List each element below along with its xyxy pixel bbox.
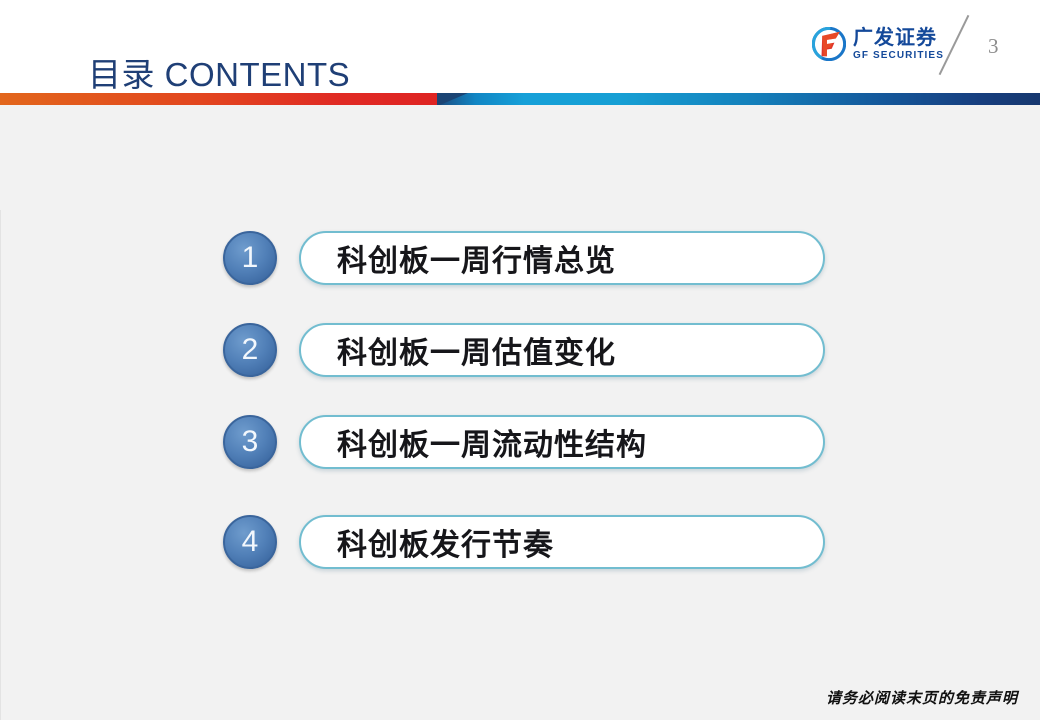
toc-pill-2[interactable]: 科创板一周估值变化 <box>299 323 825 377</box>
slide-left-edge-line <box>0 210 1 720</box>
toc-number-badge-1: 1 <box>223 231 277 285</box>
presentation-slide: 目录 CONTENTS 广发证券 GF SECURITIES 3 1 <box>0 0 1040 720</box>
brand-logo: 广发证券 GF SECURITIES <box>812 27 944 61</box>
toc-number-badge-3: 3 <box>223 415 277 469</box>
toc-entry-3[interactable]: 3 科创板一周流动性结构 <box>223 410 825 474</box>
page-number: 3 <box>988 34 999 59</box>
toc-pill-4[interactable]: 科创板发行节奏 <box>299 515 825 569</box>
toc-entry-label: 科创板发行节奏 <box>337 520 554 564</box>
toc-entry-2[interactable]: 2 科创板一周估值变化 <box>223 318 825 382</box>
divider-warm-segment <box>0 93 455 105</box>
brand-logo-text: 广发证券 GF SECURITIES <box>853 28 944 61</box>
slide-header: 目录 CONTENTS 广发证券 GF SECURITIES 3 <box>0 0 1040 93</box>
gf-securities-logo-icon <box>812 27 846 61</box>
toc-number-badge-2: 2 <box>223 323 277 377</box>
toc-number-label: 4 <box>242 527 259 557</box>
toc-pill-1[interactable]: 科创板一周行情总览 <box>299 231 825 285</box>
toc-entry-4[interactable]: 4 科创板发行节奏 <box>223 510 825 574</box>
toc-list: 1 科创板一周行情总览 2 科创板一周估值变化 3 科创板一周流动性结构 <box>0 105 1040 720</box>
toc-number-badge-4: 4 <box>223 515 277 569</box>
disclaimer-footer: 请务必阅读末页的免责声明 <box>826 687 1018 708</box>
header-divider-bar <box>0 93 1040 105</box>
brand-name-cn: 广发证券 <box>853 28 944 48</box>
divider-cool-segment <box>440 93 1040 105</box>
toc-number-label: 1 <box>242 243 259 273</box>
toc-number-label: 2 <box>242 335 259 365</box>
toc-entry-label: 科创板一周估值变化 <box>337 328 616 372</box>
page-title: 目录 CONTENTS <box>88 48 350 96</box>
toc-number-label: 3 <box>242 427 259 457</box>
brand-name-en: GF SECURITIES <box>853 51 944 61</box>
toc-entry-label: 科创板一周行情总览 <box>337 236 616 280</box>
toc-entry-label: 科创板一周流动性结构 <box>337 420 647 464</box>
toc-entry-1[interactable]: 1 科创板一周行情总览 <box>223 226 825 290</box>
toc-pill-3[interactable]: 科创板一周流动性结构 <box>299 415 825 469</box>
